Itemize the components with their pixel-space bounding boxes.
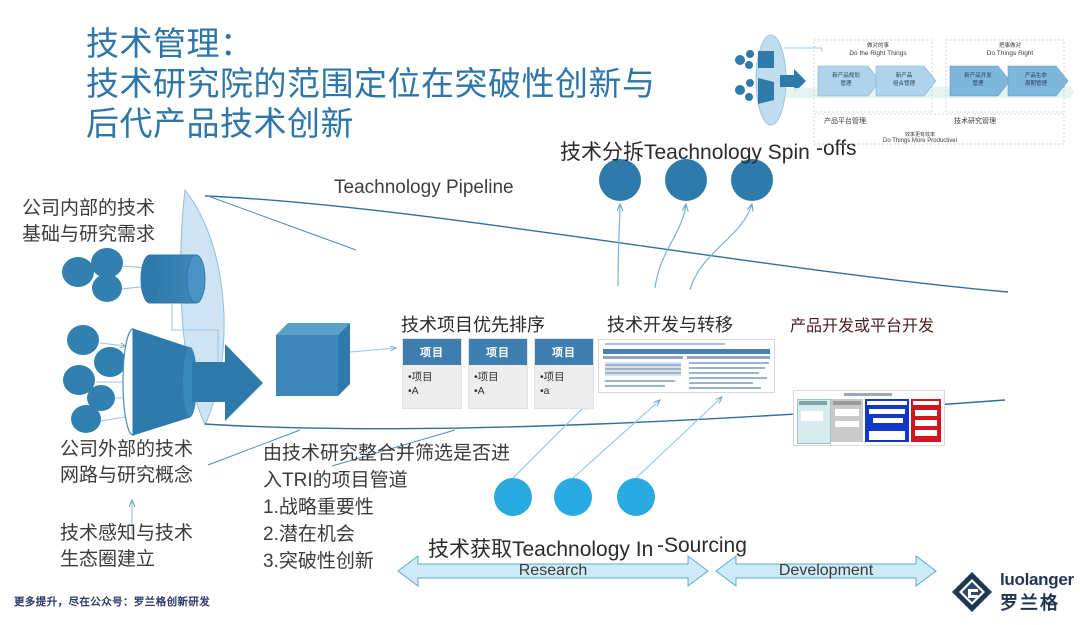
spin-off-nodes [599, 159, 773, 290]
phase-label-development: Development [716, 562, 936, 580]
cube-out-connector [350, 348, 396, 352]
label-internal-source: 公司内部的技术 基础与研究需求 [22, 196, 155, 248]
inset-right-group-cn: 把事做对 [970, 42, 1050, 50]
inset-left-group-en: Do the Right Things [828, 50, 928, 57]
lens-leader-line [208, 196, 356, 250]
priority-card-header: 项目 [535, 339, 593, 365]
footer-text: 更多提升，尽在公众号：罗兰格创新研发 [14, 594, 210, 609]
phase-label-research: Research [398, 562, 708, 580]
inset-stage-3: 新产品开发 管理 [952, 73, 1004, 88]
panel-heading-priority: 技术项目优先排序 [401, 311, 545, 337]
logo-name-en: luolanger [1000, 570, 1074, 590]
inset-bottom-en: Do Things More Productivel [845, 138, 995, 144]
in-sourcing-nodes [494, 397, 722, 516]
priority-card-body: •项目 •A [403, 365, 461, 408]
priority-card-header: 项目 [403, 339, 461, 365]
label-external-source: 公司外部的技术 网路与研究概念 [60, 437, 193, 489]
panel-heading-product: 产品开发或平台开发 [790, 312, 934, 336]
priority-card[interactable]: 项目 •项目 •a [534, 338, 594, 409]
inset-stage-4: 产品生命 周期管理 [1010, 73, 1062, 88]
priority-card-body: •项目 •a [535, 365, 593, 408]
inset-stage-1: 新产品规划 管理 [820, 73, 872, 88]
panel-heading-development: 技术开发与转移 [607, 311, 733, 337]
inset-bottom-left: 产品平台管理 [800, 116, 890, 126]
priority-card-group: 项目 •项目 •A 项目 •项目 •A 项目 •项目 •a [402, 338, 594, 409]
priority-card-header: 项目 [469, 339, 527, 365]
label-pipeline: Teachnology Pipeline [334, 177, 514, 199]
label-sensing: 技术感知与技术 生态圈建立 [60, 521, 193, 573]
thumbnail-development-transfer[interactable] [598, 339, 775, 393]
pipeline-top-curve [205, 196, 1008, 292]
label-in-sourcing-en: -Sourcing [657, 534, 747, 558]
priority-card-body: •项目 •A [469, 365, 527, 408]
priority-card[interactable]: 项目 •项目 •A [402, 338, 462, 409]
inset-stage-2: 新产品 组合管理 [878, 73, 930, 88]
inset-right-group-en: Do Things Right [960, 50, 1060, 57]
technology-base-cylinder [141, 255, 205, 303]
inset-bottom-right: 技术研究管理 [930, 116, 1020, 126]
inset-left-group-cn: 做对的事 [838, 42, 918, 50]
logo-name-cn: 罗兰格 [1000, 589, 1060, 615]
slide-canvas: 技术管理： 技术研究院的范围定位在突破性创新与 后代产品技术创新 [0, 0, 1080, 625]
label-in-sourcing-cn: 技术获取Teachnology In [428, 533, 653, 563]
logo-mark-icon [948, 568, 996, 616]
integration-cube [276, 323, 350, 396]
internal-source-dots [62, 248, 148, 302]
inset-bottom-cn: 效率更有效率 [855, 131, 985, 138]
brand-logo[interactable]: luolanger 罗兰格 [948, 568, 1074, 616]
priority-card[interactable]: 项目 •项目 •A [468, 338, 528, 409]
thumbnail-product-platform[interactable] [793, 390, 945, 446]
